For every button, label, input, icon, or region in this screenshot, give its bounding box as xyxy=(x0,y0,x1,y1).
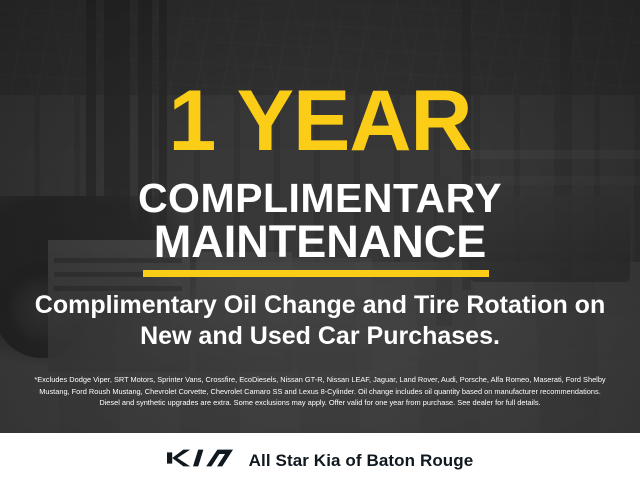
offer-subheadline: Complimentary Oil Change and Tire Rotati… xyxy=(16,290,624,352)
secondary-headline-line-2: MAINTENANCE xyxy=(0,220,640,264)
offer-subheadline-line-1: Complimentary Oil Change and Tire Rotati… xyxy=(35,291,568,319)
secondary-headline-line-1: COMPLIMENTARY xyxy=(138,175,502,221)
dealer-name: All Star Kia of Baton Rouge xyxy=(249,451,474,471)
disclaimer-text: *Excludes Dodge Viper, SRT Motors, Sprin… xyxy=(14,374,626,409)
yellow-divider-rule xyxy=(143,270,489,277)
promotional-banner: 1 YEAR COMPLIMENTARY MAINTENANCE Complim… xyxy=(0,0,640,488)
disclaimer-line-3: Diesel and synthetic upgrades are extra.… xyxy=(14,397,626,409)
disclaimer-line-1: *Excludes Dodge Viper, SRT Motors, Sprin… xyxy=(14,374,626,386)
secondary-headline: COMPLIMENTARY MAINTENANCE xyxy=(0,176,640,264)
primary-headline: 1 YEAR xyxy=(0,78,640,164)
kia-logo xyxy=(167,448,233,473)
dealer-footer-bar: All Star Kia of Baton Rouge xyxy=(0,433,640,488)
disclaimer-line-2: Mustang, Ford Roush Mustang, Chevrolet C… xyxy=(14,386,626,398)
banner-content: 1 YEAR COMPLIMENTARY MAINTENANCE Complim… xyxy=(0,0,640,433)
